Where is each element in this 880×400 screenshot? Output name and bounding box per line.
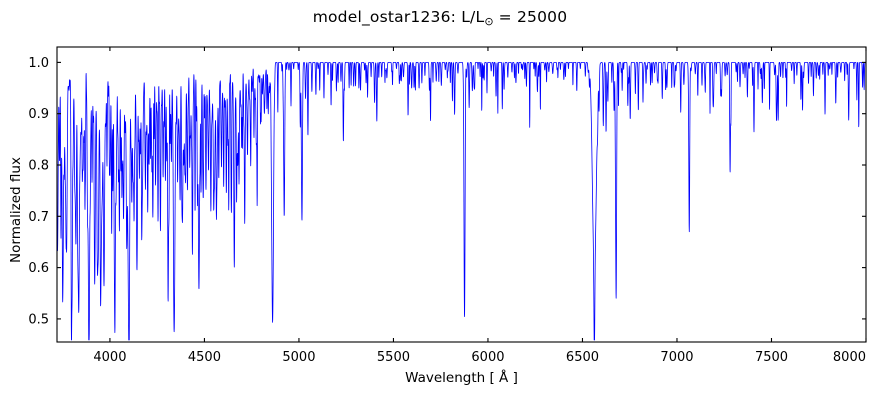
x-tick-label: 5500 <box>377 350 410 365</box>
x-tick-label: 4500 <box>188 350 221 365</box>
plot-axes: 4000450050005500600065007000750080000.50… <box>0 0 880 400</box>
y-tick-label: 0.5 <box>28 312 49 327</box>
x-tick-label: 7000 <box>660 350 693 365</box>
spectrum-line <box>57 62 866 340</box>
y-tick-label: 1.0 <box>28 56 49 71</box>
y-axis-label: Normalized flux <box>8 130 24 290</box>
x-axis-label: Wavelength [ Å ] <box>57 370 866 386</box>
y-tick-label: 0.8 <box>28 159 49 174</box>
x-tick-label: 6000 <box>471 350 504 365</box>
x-tick-label: 5000 <box>282 350 315 365</box>
spectrum-figure: model_ostar1236: L/L⊙ = 25000 4000450050… <box>0 0 880 400</box>
axis-ticks: 4000450050005500600065007000750080000.50… <box>28 47 866 365</box>
y-tick-label: 0.9 <box>28 107 49 122</box>
x-tick-label: 4000 <box>93 350 126 365</box>
y-tick-label: 0.7 <box>28 210 49 225</box>
spectrum-path <box>57 62 866 340</box>
x-tick-label: 6500 <box>566 350 599 365</box>
x-tick-label: 8000 <box>833 350 866 365</box>
y-tick-label: 0.6 <box>28 261 49 276</box>
plot-frame <box>57 47 866 342</box>
x-tick-label: 7500 <box>755 350 788 365</box>
